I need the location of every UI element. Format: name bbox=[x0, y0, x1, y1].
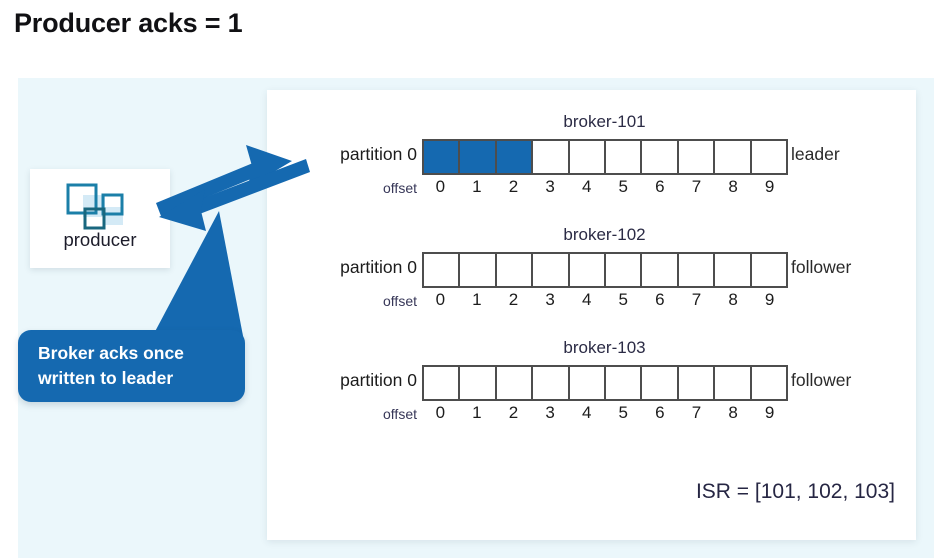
partition-cell-6 bbox=[642, 141, 678, 173]
partition-cell-4 bbox=[570, 367, 606, 399]
partition-cell-9 bbox=[752, 254, 786, 286]
partition-cell-6 bbox=[642, 367, 678, 399]
offset-numbers: 0123456789 bbox=[422, 290, 788, 310]
diagram-page: Producer acks = 1 broker-101 partition 0… bbox=[0, 0, 934, 558]
broker-role-label: follower bbox=[791, 370, 851, 391]
partition-cell-2 bbox=[497, 254, 533, 286]
offset-numbers: 0123456789 bbox=[422, 403, 788, 423]
partition-cell-0 bbox=[424, 141, 460, 173]
offset-number-3: 3 bbox=[532, 403, 569, 423]
broker-panel: broker-101 partition 0 leader offset 012… bbox=[267, 90, 916, 540]
offset-number-8: 8 bbox=[715, 290, 752, 310]
partition-cell-5 bbox=[606, 367, 642, 399]
offset-numbers: 0123456789 bbox=[422, 177, 788, 197]
partition-cell-8 bbox=[715, 141, 751, 173]
offset-number-2: 2 bbox=[495, 290, 532, 310]
callout-bubble: Broker acks once written to leader bbox=[18, 330, 245, 402]
broker-title: broker-103 bbox=[422, 338, 787, 358]
offset-number-7: 7 bbox=[678, 177, 715, 197]
offset-number-6: 6 bbox=[642, 177, 679, 197]
offset-number-4: 4 bbox=[568, 290, 605, 310]
broker-title: broker-101 bbox=[422, 112, 787, 132]
offset-number-1: 1 bbox=[459, 177, 496, 197]
partition-cell-5 bbox=[606, 141, 642, 173]
partition-cell-4 bbox=[570, 254, 606, 286]
offset-number-1: 1 bbox=[459, 403, 496, 423]
partition-cell-5 bbox=[606, 254, 642, 286]
partition-cell-0 bbox=[424, 254, 460, 286]
partition-label: partition 0 bbox=[267, 144, 417, 165]
partition-cell-8 bbox=[715, 254, 751, 286]
offset-number-1: 1 bbox=[459, 290, 496, 310]
partition-cells bbox=[422, 252, 788, 288]
partition-cell-7 bbox=[679, 254, 715, 286]
isr-label: ISR = [101, 102, 103] bbox=[665, 480, 895, 504]
partition-cell-3 bbox=[533, 254, 569, 286]
broker-title: broker-102 bbox=[422, 225, 787, 245]
callout-line-1: Broker acks once bbox=[38, 341, 230, 366]
producer-label: producer bbox=[30, 229, 170, 251]
partition-label: partition 0 bbox=[267, 257, 417, 278]
offset-label: offset bbox=[267, 293, 417, 309]
partition-cell-0 bbox=[424, 367, 460, 399]
partition-cell-1 bbox=[460, 254, 496, 286]
partition-cells bbox=[422, 139, 788, 175]
offset-number-9: 9 bbox=[751, 403, 788, 423]
offset-number-4: 4 bbox=[568, 177, 605, 197]
offset-number-5: 5 bbox=[605, 290, 642, 310]
callout-text: Broker acks once written to leader bbox=[38, 341, 230, 391]
partition-cell-1 bbox=[460, 141, 496, 173]
page-title: Producer acks = 1 bbox=[14, 8, 243, 39]
offset-number-8: 8 bbox=[715, 403, 752, 423]
partition-cell-1 bbox=[460, 367, 496, 399]
broker-role-label: leader bbox=[791, 144, 840, 165]
partition-cell-8 bbox=[715, 367, 751, 399]
offset-number-6: 6 bbox=[642, 290, 679, 310]
offset-number-9: 9 bbox=[751, 177, 788, 197]
offset-number-5: 5 bbox=[605, 177, 642, 197]
offset-number-5: 5 bbox=[605, 403, 642, 423]
offset-number-4: 4 bbox=[568, 403, 605, 423]
partition-cell-9 bbox=[752, 367, 786, 399]
overlapping-squares-icon bbox=[63, 183, 138, 231]
offset-number-0: 0 bbox=[422, 403, 459, 423]
offset-number-7: 7 bbox=[678, 290, 715, 310]
broker-role-label: follower bbox=[791, 257, 851, 278]
partition-cell-9 bbox=[752, 141, 786, 173]
offset-number-0: 0 bbox=[422, 290, 459, 310]
partition-label: partition 0 bbox=[267, 370, 417, 391]
partition-cell-2 bbox=[497, 141, 533, 173]
offset-label: offset bbox=[267, 180, 417, 196]
partition-cell-6 bbox=[642, 254, 678, 286]
offset-number-3: 3 bbox=[532, 177, 569, 197]
offset-number-3: 3 bbox=[532, 290, 569, 310]
offset-number-9: 9 bbox=[751, 290, 788, 310]
partition-cell-7 bbox=[679, 367, 715, 399]
partition-cell-7 bbox=[679, 141, 715, 173]
offset-number-0: 0 bbox=[422, 177, 459, 197]
partition-cell-3 bbox=[533, 141, 569, 173]
callout-line-2: written to leader bbox=[38, 366, 230, 391]
offset-number-7: 7 bbox=[678, 403, 715, 423]
partition-cell-2 bbox=[497, 367, 533, 399]
partition-cells bbox=[422, 365, 788, 401]
offset-number-8: 8 bbox=[715, 177, 752, 197]
offset-number-6: 6 bbox=[642, 403, 679, 423]
producer-card: producer bbox=[30, 169, 170, 268]
partition-cell-3 bbox=[533, 367, 569, 399]
offset-label: offset bbox=[267, 406, 417, 422]
offset-number-2: 2 bbox=[495, 403, 532, 423]
offset-number-2: 2 bbox=[495, 177, 532, 197]
partition-cell-4 bbox=[570, 141, 606, 173]
